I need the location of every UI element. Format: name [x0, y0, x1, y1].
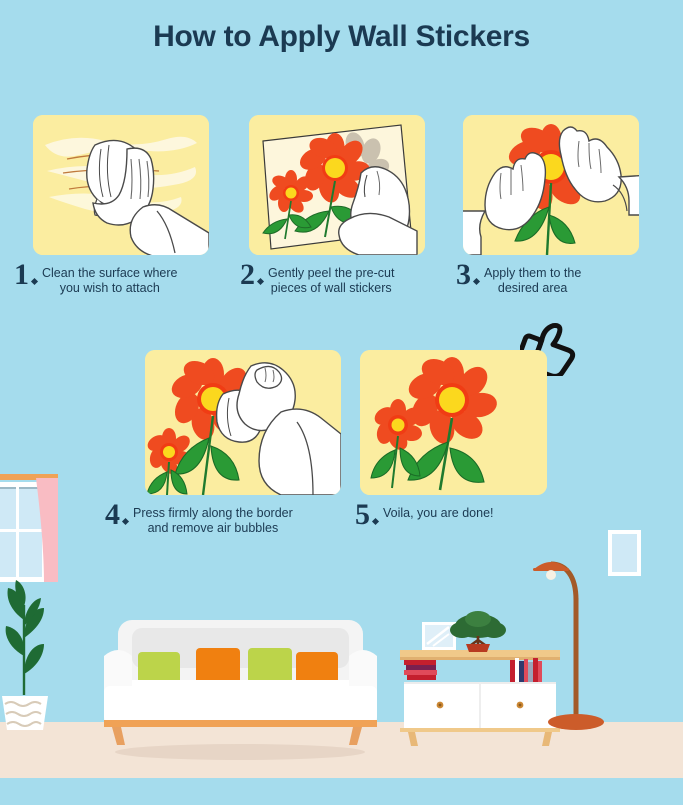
- step-4-text: Press firmly along the border and remove…: [133, 502, 293, 536]
- step-5-image: [360, 350, 547, 495]
- room-illustration: [0, 430, 683, 800]
- page-title: How to Apply Wall Stickers: [0, 20, 683, 54]
- step-1-text: Clean the surface where you wish to atta…: [42, 262, 178, 296]
- picture-frame-small: [422, 622, 456, 650]
- step-3-number: 3: [456, 262, 471, 288]
- step-2-period: [257, 278, 264, 285]
- step-4-period: [122, 518, 129, 525]
- step-5-number: 5: [355, 502, 370, 528]
- step-2-number: 2: [240, 262, 255, 288]
- window-with-pink-curtain: [0, 474, 58, 582]
- step-3-period: [473, 278, 480, 285]
- stacked-books: [404, 660, 437, 680]
- step-3-label: 3 Apply them to the desired area: [456, 262, 666, 296]
- upright-books: [510, 658, 542, 682]
- step-4-image: [145, 350, 341, 495]
- step-1-period: [31, 278, 38, 285]
- step-5-label: 5 Voila, you are done!: [355, 502, 575, 528]
- step-1-label: 1 Clean the surface where you wish to at…: [14, 262, 234, 296]
- step-3-image: [463, 115, 639, 255]
- step-2-label: 2 Gently peel the pre-cut pieces of wall…: [240, 262, 450, 296]
- step-4-number: 4: [105, 502, 120, 528]
- step-2-text: Gently peel the pre-cut pieces of wall s…: [268, 262, 394, 296]
- step-3-text: Apply them to the desired area: [484, 262, 581, 296]
- step-4-label: 4 Press firmly along the border and remo…: [105, 502, 355, 536]
- wall-picture-frame: [608, 530, 641, 576]
- step-2-image: [249, 115, 425, 255]
- step-1-image: [33, 115, 209, 255]
- step-1-number: 1: [14, 262, 29, 288]
- step-5-text: Voila, you are done!: [383, 502, 494, 521]
- infographic-canvas: How to Apply Wall Stickers: [0, 0, 683, 800]
- step-5-period: [372, 518, 379, 525]
